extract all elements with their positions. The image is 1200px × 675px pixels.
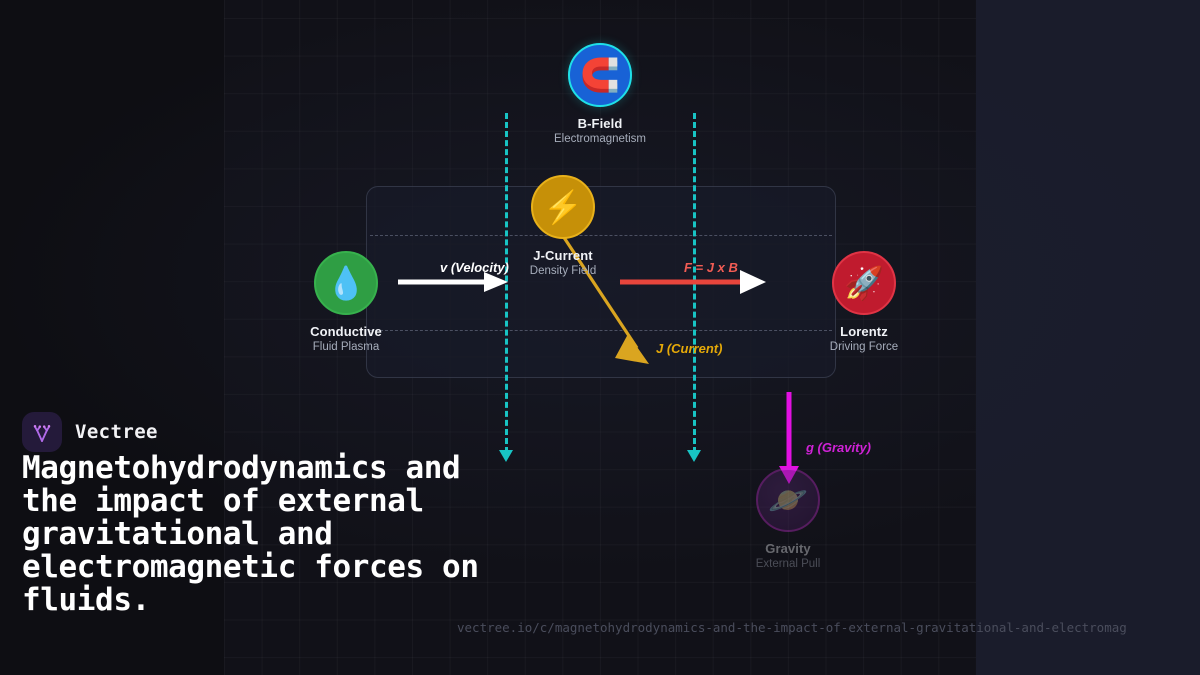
- brand-name: Vectree: [75, 421, 158, 443]
- node-b-field-label: B-Field: [525, 116, 675, 131]
- node-gravity-label: Gravity: [713, 541, 863, 556]
- node-conductive-sublabel: Fluid Plasma: [271, 341, 421, 353]
- rocket-icon: 🚀: [832, 251, 896, 315]
- edge-label-current: J (Current): [656, 341, 722, 356]
- planet-icon: 🪐: [756, 468, 820, 532]
- edge-label-gravity: g (Gravity): [806, 440, 871, 455]
- lightning-icon: ⚡: [531, 175, 595, 239]
- magnetic-field-line-1: [505, 113, 508, 453]
- node-conductive[interactable]: 💧 Conductive Fluid Plasma: [271, 251, 421, 353]
- magnetic-field-line-2: [693, 113, 696, 453]
- node-lorentz-sublabel: Driving Force: [789, 341, 939, 353]
- edge-label-lorentz-force: F = J x B: [684, 260, 738, 275]
- node-b-field[interactable]: 🧲 B-Field Electromagnetism: [525, 43, 675, 145]
- node-j-current-label: J-Current: [488, 248, 638, 263]
- node-lorentz[interactable]: 🚀 Lorentz Driving Force: [789, 251, 939, 353]
- brand-block: Vectree: [22, 412, 158, 452]
- vectree-tree-icon: [22, 412, 62, 452]
- node-gravity[interactable]: 🪐 Gravity External Pull: [713, 468, 863, 570]
- droplet-icon: 💧: [314, 251, 378, 315]
- magnetic-field-line-1-arrowhead: [499, 450, 513, 462]
- background-right-panel: [976, 0, 1200, 675]
- page-title: Magnetohydrodynamics and the impact of e…: [22, 452, 492, 617]
- canvas-root: v (Velocity) F = J x B J (Current) g (Gr…: [0, 0, 1200, 675]
- node-conductive-label: Conductive: [271, 324, 421, 339]
- node-lorentz-label: Lorentz: [789, 324, 939, 339]
- page-url: vectree.io/c/magnetohydrodynamics-and-th…: [457, 620, 1127, 635]
- node-j-current-sublabel: Density Field: [488, 265, 638, 277]
- panel-dashed-line-bottom: [370, 330, 832, 331]
- node-gravity-sublabel: External Pull: [713, 558, 863, 570]
- magnet-icon: 🧲: [568, 43, 632, 107]
- node-j-current[interactable]: ⚡ J-Current Density Field: [488, 175, 638, 277]
- node-b-field-sublabel: Electromagnetism: [525, 133, 675, 145]
- magnetic-field-line-2-arrowhead: [687, 450, 701, 462]
